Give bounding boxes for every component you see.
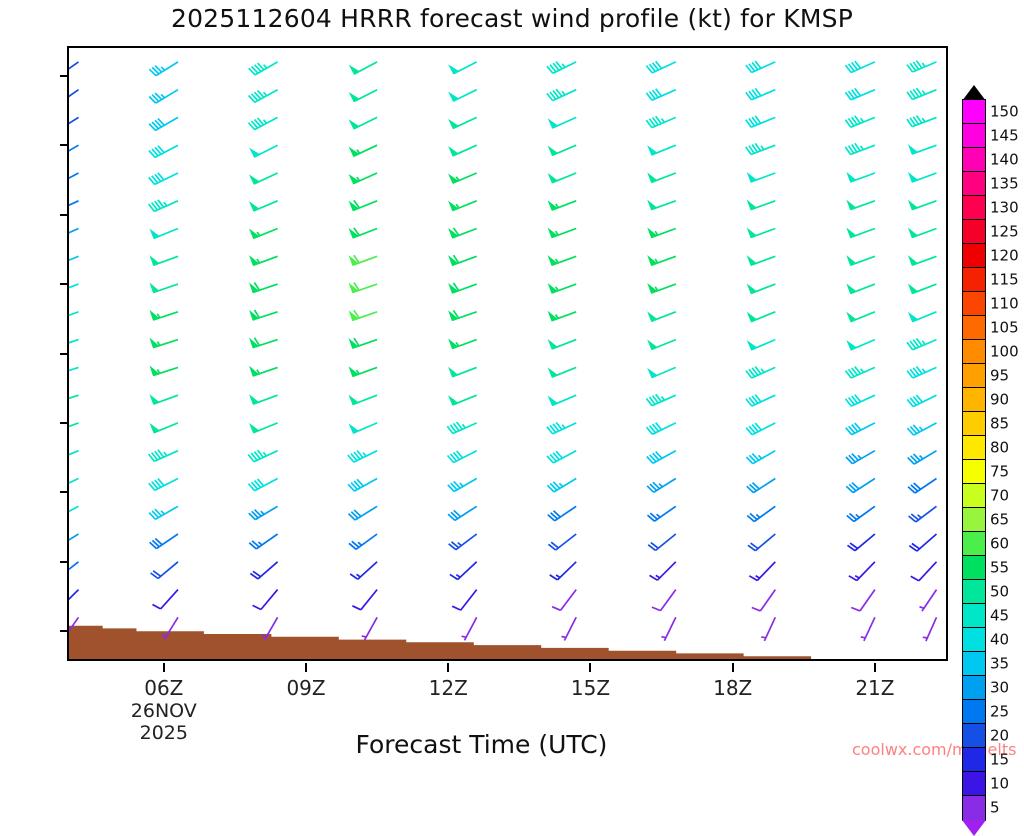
wind-barb	[748, 534, 775, 551]
wind-barb	[746, 423, 775, 435]
colorbar-band: 55	[962, 555, 986, 581]
wind-barb	[648, 284, 676, 293]
colorbar-tick-label: 130	[990, 199, 1019, 217]
y-axis-tick-mark	[60, 214, 69, 216]
wind-barb	[69, 367, 79, 376]
wind-barb	[861, 617, 875, 641]
wind-barb	[151, 395, 179, 404]
wind-barb	[746, 143, 776, 154]
wind-barb	[250, 256, 278, 265]
colorbar-tick-label: 115	[990, 271, 1019, 289]
wind-barb	[449, 228, 477, 238]
wind-barb	[449, 367, 477, 376]
wind-barb	[909, 534, 936, 551]
wind-barb	[909, 506, 937, 522]
wind-barb	[547, 451, 576, 463]
colorbar-tick-label: 50	[990, 583, 1009, 601]
wind-barb-column	[907, 61, 937, 642]
wind-barb	[249, 117, 278, 129]
colorbar-band: 90	[962, 387, 986, 413]
wind-barb	[746, 395, 775, 407]
wind-barb	[249, 534, 277, 549]
x-axis-tick-label: 06Z	[144, 676, 183, 700]
y-axis-tick-mark	[60, 422, 69, 424]
colorbar-band: 135	[962, 171, 986, 197]
wind-barb	[69, 310, 79, 321]
wind-barb	[847, 229, 875, 238]
wind-barb	[549, 395, 576, 405]
wind-barb	[250, 310, 278, 320]
wind-barb	[69, 282, 79, 293]
wind-barb	[548, 506, 576, 521]
wind-barb	[549, 367, 576, 377]
colorbar-tick-label: 100	[990, 343, 1019, 361]
wind-barb	[69, 173, 79, 185]
wind-barb	[907, 116, 937, 127]
wind-barb	[151, 284, 179, 293]
colorbar-under-arrow	[962, 820, 986, 836]
wind-barb	[362, 617, 377, 640]
wind-barb	[350, 145, 377, 156]
wind-barb	[151, 229, 178, 239]
wind-barb	[69, 451, 79, 461]
wind-barb-column	[348, 62, 377, 640]
wind-barb	[250, 283, 278, 293]
wind-barb	[150, 534, 178, 549]
wind-barb	[549, 534, 577, 550]
colorbar-tick-label: 70	[990, 487, 1009, 505]
colorbar-band: 5	[962, 795, 986, 821]
wind-barb	[761, 617, 775, 641]
wind-barb	[909, 284, 937, 293]
colorbar-tick-label: 105	[990, 319, 1019, 337]
wind-barb	[847, 201, 875, 210]
wind-barb	[908, 479, 936, 494]
wind-barb	[752, 590, 776, 611]
wind-barb	[69, 201, 79, 212]
wind-barb-layer	[69, 48, 946, 659]
colorbar-band: 30	[962, 675, 986, 701]
wind-barb	[547, 89, 576, 101]
y-axis-tick-mark	[60, 491, 69, 493]
wind-barb-column	[149, 62, 178, 640]
wind-barb	[562, 617, 577, 640]
wind-barb	[250, 562, 277, 579]
wind-barb	[648, 312, 676, 321]
wind-barb	[647, 451, 676, 464]
wind-barb	[909, 145, 937, 154]
wind-barb-column	[248, 62, 277, 640]
wind-barb	[69, 395, 79, 404]
colorbar-band: 150	[962, 99, 986, 125]
wind-barb	[847, 506, 875, 521]
wind-barb	[549, 229, 577, 238]
wind-barb	[549, 312, 577, 321]
wind-barb	[449, 90, 476, 101]
wind-barb	[69, 256, 79, 266]
wind-profile-plot: 775800825850875900925950975 06Z26NOV2025…	[67, 46, 948, 661]
wind-barb	[149, 173, 178, 185]
colorbar-tick-label: 10	[990, 775, 1009, 793]
colorbar-tick-label: 25	[990, 703, 1009, 721]
wind-barb	[448, 451, 477, 463]
wind-barb	[920, 590, 937, 612]
wind-barb	[845, 116, 875, 127]
wind-barb	[748, 229, 776, 238]
colorbar-tick-label: 90	[990, 391, 1009, 409]
y-axis-tick-mark	[60, 561, 69, 563]
wind-barb	[149, 506, 178, 519]
colorbar-band: 80	[962, 435, 986, 461]
wind-barb	[253, 590, 278, 610]
wind-barb	[69, 90, 79, 105]
wind-barb	[909, 201, 937, 210]
colorbar-tick-label: 125	[990, 223, 1019, 241]
wind-barb	[449, 340, 477, 349]
wind-barb	[846, 367, 875, 379]
wind-barb	[149, 117, 178, 130]
wind-barb	[449, 62, 476, 74]
wind-barb	[149, 479, 178, 491]
x-axis-tick-label: 15Z	[571, 676, 610, 700]
wind-barb	[448, 506, 477, 520]
wind-barb	[549, 145, 576, 155]
wind-barb	[250, 173, 277, 184]
colorbar-tick-label: 55	[990, 559, 1009, 577]
wind-barb	[851, 590, 875, 611]
wind-barb	[547, 479, 576, 492]
wind-barb	[250, 201, 278, 211]
wind-barb	[249, 479, 278, 491]
wind-barb	[449, 201, 477, 211]
wind-barb	[849, 562, 875, 581]
wind-barb	[746, 451, 775, 464]
x-axis-tick-mark	[589, 663, 591, 672]
wind-barb	[847, 284, 875, 293]
wind-barb	[549, 340, 577, 349]
wind-barb	[846, 479, 875, 493]
wind-barb	[350, 283, 378, 293]
wind-barb	[349, 534, 377, 549]
wind-barb	[69, 117, 79, 131]
wind-barb	[69, 145, 79, 158]
colorbar-band: 145	[962, 123, 986, 149]
colorbar-tick-label: 45	[990, 607, 1009, 625]
wind-barb	[907, 367, 936, 379]
wind-barb	[846, 395, 875, 407]
wind-barb-column	[746, 61, 776, 641]
wind-barb	[449, 310, 477, 320]
colorbar-tick-label: 140	[990, 151, 1019, 169]
colorbar-band: 65	[962, 507, 986, 533]
wind-barb	[646, 394, 675, 405]
colorbar-band: 10	[962, 771, 986, 797]
wind-barb	[449, 145, 476, 156]
wind-barb	[550, 562, 577, 580]
wind-barb	[748, 173, 776, 182]
wind-barb	[452, 590, 477, 611]
wind-barb	[69, 617, 79, 638]
colorbar-tick-label: 30	[990, 679, 1009, 697]
wind-barb	[149, 145, 178, 157]
wind-barb	[547, 62, 576, 74]
colorbar-band: 105	[962, 315, 986, 341]
wind-barb	[748, 284, 776, 293]
x-axis-label: Forecast Time (UTC)	[356, 730, 608, 759]
colorbar-band: 60	[962, 531, 986, 557]
wind-barb	[907, 61, 937, 72]
colorbar-band: 85	[962, 411, 986, 437]
wind-barb	[250, 338, 278, 348]
colorbar-tick-label: 65	[990, 511, 1009, 529]
x-axis-tick-label: 21Z	[855, 676, 894, 700]
wind-barb	[647, 423, 676, 435]
wind-barb	[907, 423, 936, 435]
wind-barb	[646, 89, 675, 100]
wind-barb	[549, 256, 577, 265]
colorbar-band: 100	[962, 339, 986, 365]
wind-barb	[746, 88, 775, 99]
wind-barb	[646, 61, 675, 73]
wind-barb	[350, 62, 377, 74]
wind-barb	[908, 451, 937, 464]
wind-barb	[151, 339, 179, 348]
wind-barb	[151, 367, 179, 376]
colorbar-band: 110	[962, 291, 986, 317]
wind-barb	[846, 423, 875, 435]
wind-barb	[749, 562, 775, 581]
x-axis-tick-mark	[732, 663, 734, 672]
wind-barb	[746, 116, 776, 127]
wind-barb	[549, 201, 577, 210]
wind-barb	[151, 562, 178, 579]
wind-barb	[450, 562, 477, 580]
wind-barb	[847, 340, 875, 350]
colorbar-tick-label: 15	[990, 751, 1009, 769]
wind-barb-column	[547, 62, 576, 641]
wind-barb	[151, 423, 178, 433]
colorbar-tick-label: 5	[990, 799, 1000, 817]
colorbar-tick-label: 20	[990, 727, 1009, 745]
wind-barb	[462, 617, 477, 640]
wind-barb	[69, 62, 79, 77]
wind-barb	[350, 255, 378, 265]
wind-barb	[847, 256, 875, 265]
x-axis-tick-label: 09Z	[286, 676, 325, 700]
page-title: 2025112604 HRRR forecast wind profile (k…	[0, 4, 1024, 33]
colorbar-tick-label: 145	[990, 127, 1019, 145]
wind-barb	[248, 450, 277, 462]
wind-barb	[153, 590, 179, 609]
colorbar-tick-label: 135	[990, 175, 1019, 193]
wind-barb	[250, 395, 278, 404]
x-axis-tick-mark	[305, 663, 307, 672]
wind-barb	[352, 590, 377, 610]
y-axis-tick-mark	[60, 353, 69, 355]
wind-barb	[348, 451, 377, 463]
colorbar-band: 15	[962, 747, 986, 773]
colorbar-tick-label: 95	[990, 367, 1009, 385]
colorbar-band: 95	[962, 363, 986, 389]
wind-barb	[162, 617, 178, 639]
wind-barb	[648, 506, 676, 521]
wind-barb	[249, 62, 278, 75]
wind-barb	[69, 506, 79, 518]
wind-barb	[846, 61, 875, 73]
wind-barb	[449, 255, 477, 265]
wind-barb-column	[646, 61, 676, 640]
wind-barb	[646, 116, 676, 127]
wind-barb	[748, 340, 775, 350]
wind-barb	[69, 478, 79, 490]
wind-barb	[350, 562, 377, 579]
wind-barb	[349, 506, 378, 520]
wind-barb	[69, 337, 79, 348]
colorbar-band: 40	[962, 627, 986, 653]
wind-barb	[748, 201, 776, 210]
colorbar-tick-label: 60	[990, 535, 1009, 553]
wind-barb	[648, 173, 676, 182]
wind-barb	[923, 617, 937, 641]
wind-barb	[350, 310, 378, 320]
wind-barb	[250, 367, 278, 376]
wind-barb	[69, 562, 79, 578]
wind-barb	[348, 479, 377, 492]
colorbar-tick-label: 110	[990, 295, 1019, 313]
colorbar-tick-label: 80	[990, 439, 1009, 457]
wind-barb	[449, 283, 477, 293]
colorbar-tick-label: 85	[990, 415, 1009, 433]
wind-barb	[449, 534, 477, 550]
wind-barb	[652, 590, 676, 611]
wind-barb	[648, 340, 676, 350]
wind-barb	[848, 534, 875, 551]
wind-barb	[350, 173, 377, 184]
wind-barb	[549, 117, 576, 128]
wind-barb	[149, 62, 178, 76]
colorbar-band: 140	[962, 147, 986, 173]
colorbar-band: 45	[962, 603, 986, 629]
wind-barb	[648, 256, 676, 265]
y-axis-tick-mark	[60, 283, 69, 285]
x-axis-tick-mark	[447, 663, 449, 672]
colorbar-band: 70	[962, 483, 986, 509]
wind-barb	[151, 256, 179, 265]
wind-barb	[447, 422, 476, 434]
colorbar-tick-label: 40	[990, 631, 1009, 649]
wind-barb	[350, 367, 378, 376]
wind-barb	[845, 143, 875, 154]
colorbar-band: 50	[962, 579, 986, 605]
wind-barb	[648, 229, 676, 238]
colorbar-band: 130	[962, 195, 986, 221]
colorbar-band: 125	[962, 219, 986, 245]
wind-barb	[547, 422, 576, 434]
wind-barb	[650, 562, 676, 580]
wind-barb-column	[845, 61, 875, 641]
y-axis-tick-mark	[60, 630, 69, 632]
wind-barb	[69, 423, 79, 432]
x-axis-tick-label: 12Z	[429, 676, 468, 700]
x-axis-tick-mark	[163, 663, 165, 672]
colorbar-band: 20	[962, 723, 986, 749]
colorbar-band: 75	[962, 459, 986, 485]
wind-barb	[846, 451, 875, 464]
wind-barb	[250, 423, 278, 433]
wind-barb	[845, 88, 875, 99]
colorbar-legend: 1501451401351301251201151101051009590858…	[962, 85, 986, 836]
wind-barb-column	[447, 62, 476, 640]
wind-barb	[552, 590, 576, 611]
wind-barb	[648, 534, 676, 550]
colorbar-tick-label: 150	[990, 103, 1019, 121]
wind-barb	[648, 367, 676, 377]
wind-barb	[250, 229, 278, 239]
colorbar-band: 120	[962, 243, 986, 269]
wind-barb	[847, 173, 875, 182]
colorbar-band: 25	[962, 699, 986, 725]
x-axis-date-label: 2025	[140, 722, 188, 744]
wind-barb	[262, 617, 278, 640]
wind-barb	[748, 256, 776, 265]
wind-barb	[448, 479, 477, 492]
wind-barb	[350, 117, 377, 128]
wind-barb	[69, 590, 79, 608]
wind-barb	[747, 479, 776, 493]
wind-barb	[746, 367, 775, 379]
colorbar-tick-label: 120	[990, 247, 1019, 265]
y-axis-tick-mark	[60, 75, 69, 77]
wind-barb	[149, 90, 178, 103]
colorbar-band: 35	[962, 651, 986, 677]
wind-barb-column	[69, 62, 79, 639]
wind-barb	[907, 395, 936, 407]
wind-barb	[449, 395, 477, 405]
wind-barb	[350, 228, 378, 238]
wind-barb	[350, 90, 377, 102]
wind-barb	[149, 450, 178, 462]
wind-barb	[907, 338, 937, 349]
wind-barb	[847, 312, 875, 322]
wind-barb	[249, 90, 278, 103]
x-axis-date-label: 26NOV	[131, 700, 197, 722]
wind-barb	[250, 145, 277, 157]
colorbar-tick-label: 75	[990, 463, 1009, 481]
wind-barb	[648, 201, 676, 210]
wind-barb	[69, 229, 79, 240]
x-axis-tick-mark	[874, 663, 876, 672]
wind-barb	[149, 200, 178, 212]
wind-barb	[350, 423, 377, 433]
wind-barb	[350, 200, 377, 210]
wind-barb	[909, 229, 937, 238]
wind-barb	[449, 173, 477, 183]
wind-barb	[747, 506, 775, 521]
wind-barb	[748, 312, 775, 322]
wind-barb	[911, 562, 937, 581]
wind-barb	[661, 617, 675, 640]
wind-barb	[549, 284, 577, 293]
wind-barb	[151, 311, 179, 320]
wind-barb	[350, 395, 378, 404]
wind-barb	[909, 256, 937, 265]
wind-barb	[909, 312, 937, 322]
wind-barb	[69, 534, 79, 548]
wind-barb	[746, 61, 775, 73]
wind-barb	[647, 479, 676, 493]
wind-barb	[909, 173, 937, 182]
plot-inner	[69, 48, 946, 659]
